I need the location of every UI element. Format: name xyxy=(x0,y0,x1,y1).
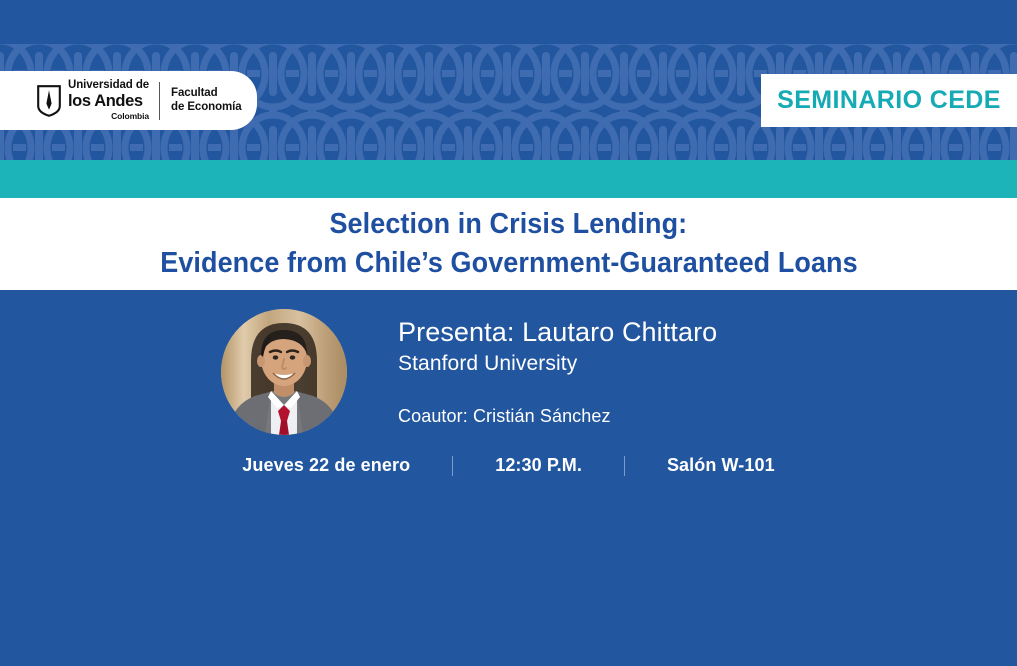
speaker-avatar xyxy=(221,309,347,435)
event-details-row: Jueves 22 de enero 12:30 P.M. Salón W-10… xyxy=(0,455,1017,476)
detail-separator-1 xyxy=(452,456,453,476)
faculty-name: Facultad de Economía xyxy=(171,87,241,114)
coauthor-name: Coautor: Cristián Sánchez xyxy=(398,406,958,427)
logo-country: Colombia xyxy=(68,112,149,121)
seminar-poster: Universidad de los Andes Colombia Facult… xyxy=(0,0,1017,666)
title-line-1: Selection in Crisis Lending: xyxy=(330,205,688,244)
title-band: Selection in Crisis Lending: Evidence fr… xyxy=(0,198,1017,290)
detail-separator-2 xyxy=(624,456,625,476)
teal-divider-strip xyxy=(0,160,1017,198)
logo-university-line1: Universidad de xyxy=(68,80,149,92)
event-time: 12:30 P.M. xyxy=(495,455,582,476)
title-line-2: Evidence from Chile’s Government-Guarant… xyxy=(160,244,857,283)
seminar-series-label: SEMINARIO CEDE xyxy=(777,86,1001,115)
event-date: Jueves 22 de enero xyxy=(242,455,410,476)
seminar-series-badge: SEMINARIO CEDE xyxy=(761,74,1017,127)
andes-shield-icon xyxy=(37,85,61,117)
faculty-line2: de Economía xyxy=(171,101,241,115)
event-room: Salón W-101 xyxy=(667,455,775,476)
presenter-name: Presenta: Lautaro Chittaro xyxy=(398,318,958,348)
university-logo-box: Universidad de los Andes Colombia Facult… xyxy=(0,71,257,130)
speaker-block: Presenta: Lautaro Chittaro Stanford Univ… xyxy=(0,290,1017,450)
logo-divider xyxy=(159,82,160,120)
speaker-details: Presenta: Lautaro Chittaro Stanford Univ… xyxy=(398,318,958,427)
logo-university-line2: los Andes xyxy=(68,93,149,110)
presenter-affiliation: Stanford University xyxy=(398,351,958,377)
faculty-line1: Facultad xyxy=(171,87,241,101)
